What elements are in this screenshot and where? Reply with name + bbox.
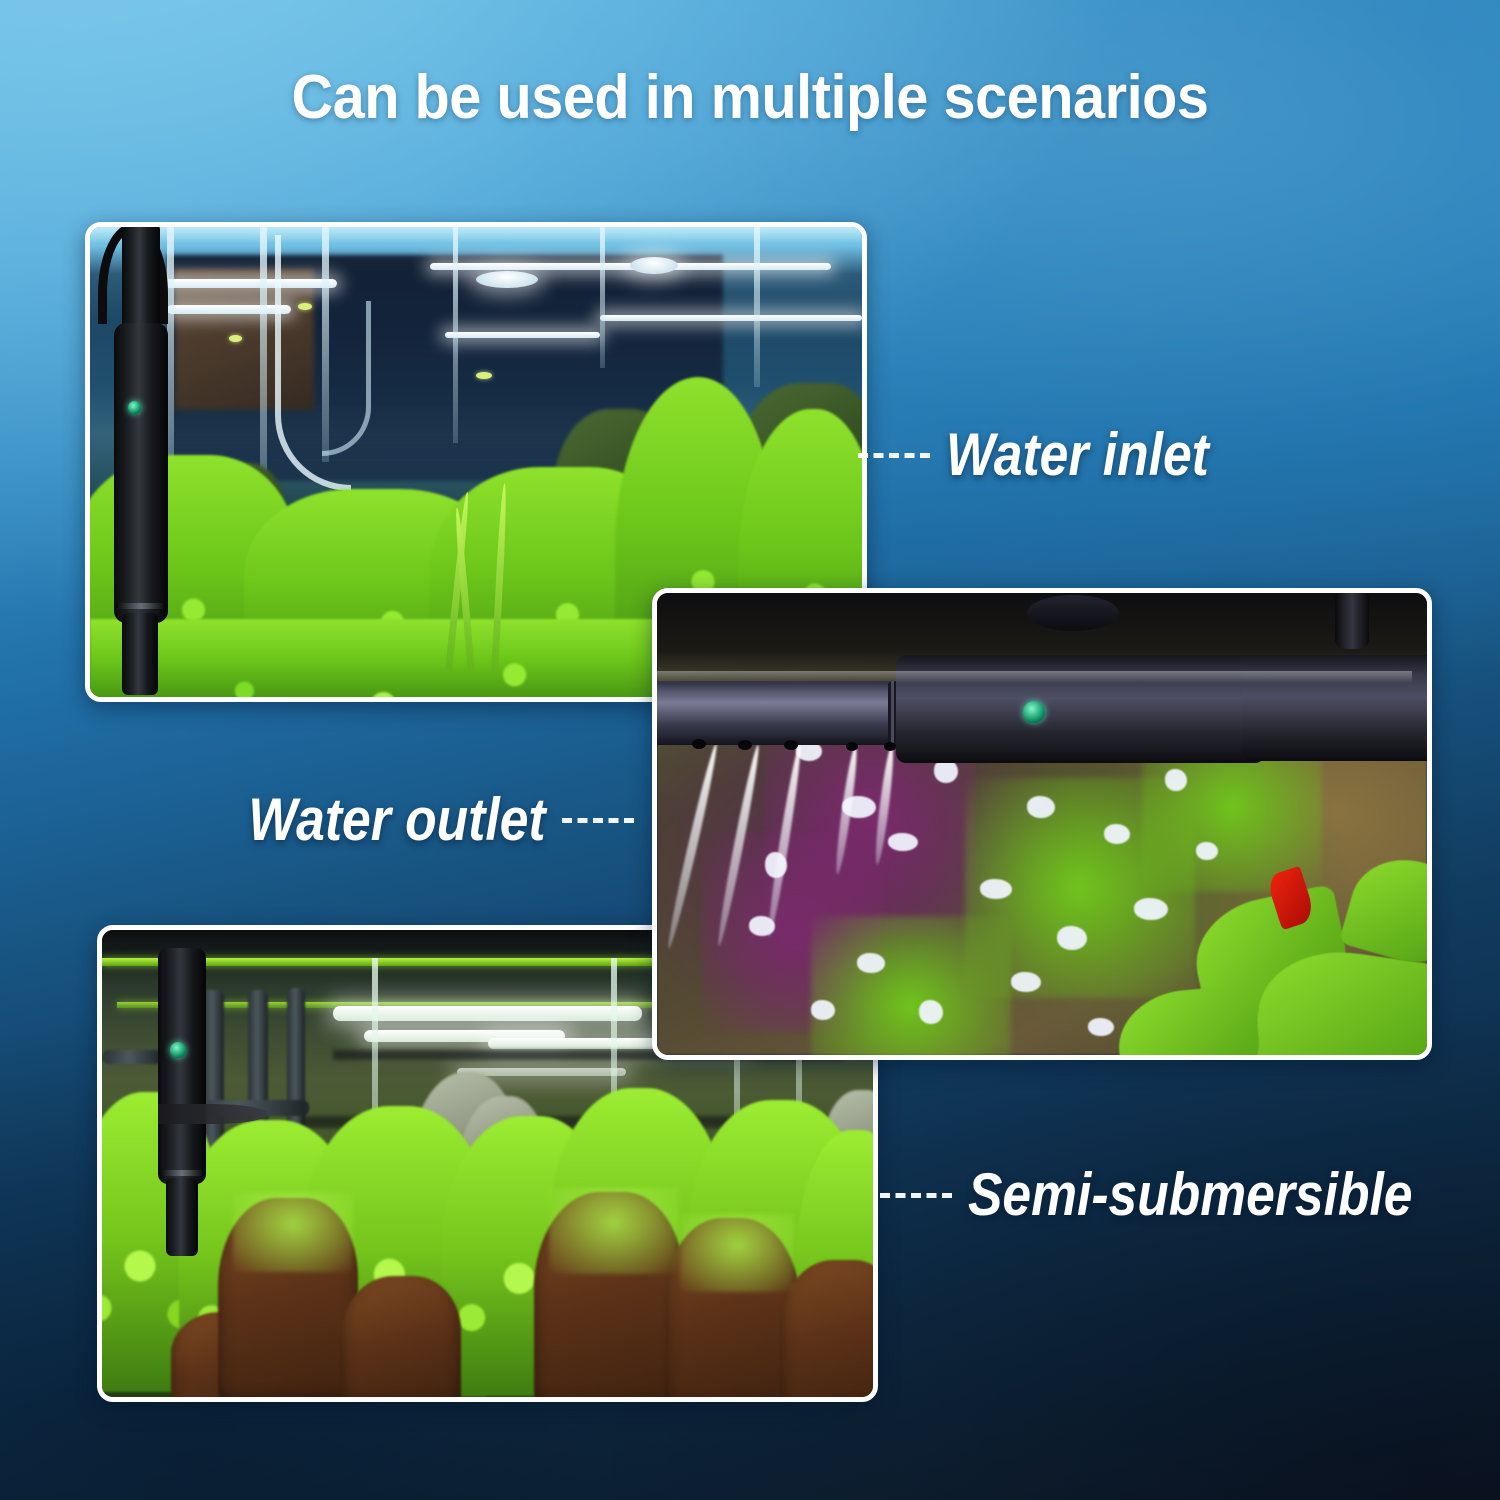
tank-glass-edge bbox=[453, 227, 458, 443]
tank-top-rim bbox=[90, 227, 862, 243]
outlet-hole bbox=[738, 740, 752, 750]
filter-tube-ring bbox=[160, 1170, 204, 1176]
moss-on-rock bbox=[549, 1188, 679, 1274]
callout-water-inlet: Water inlet bbox=[858, 425, 1252, 485]
fish bbox=[476, 372, 492, 379]
pump-highlight bbox=[657, 671, 1412, 683]
outlet-pipe-section bbox=[657, 681, 903, 745]
hose-elbow bbox=[1335, 593, 1369, 649]
tank-glass-edge bbox=[600, 227, 605, 368]
filter-tube-body bbox=[158, 948, 206, 1184]
airline-tubing bbox=[322, 301, 371, 456]
callout-semi-submersible: Semi-submersible bbox=[880, 1165, 1485, 1225]
suction-cup bbox=[1027, 595, 1119, 631]
ceiling-light-disc bbox=[476, 271, 538, 288]
power-indicator-led bbox=[170, 1042, 186, 1058]
ceiling-lamp bbox=[333, 1006, 641, 1021]
outlet-hole bbox=[784, 740, 798, 750]
light-bar bbox=[600, 315, 862, 321]
tank-glass-edge bbox=[754, 227, 760, 387]
lava-rock bbox=[341, 1276, 461, 1397]
leader-dash-icon bbox=[858, 453, 930, 458]
rock-stream-scene-outlet bbox=[657, 593, 1427, 1055]
background-pipe bbox=[102, 1050, 162, 1064]
filter-tube-outlet-nozzle bbox=[122, 613, 158, 695]
filter-tube-outlet-nozzle bbox=[166, 1178, 198, 1256]
leader-dash-icon bbox=[880, 1193, 952, 1198]
light-bar bbox=[445, 332, 599, 338]
infographic-canvas: Can be used in multiple scenarios bbox=[0, 0, 1500, 1500]
outlet-hole bbox=[846, 742, 858, 751]
page-title: Can be used in multiple scenarios bbox=[53, 62, 1448, 133]
moss-on-rock bbox=[233, 1192, 353, 1272]
callout-label: Water inlet bbox=[946, 425, 1209, 485]
suction-bracket bbox=[158, 1104, 268, 1124]
callout-label: Semi-submersible bbox=[968, 1165, 1412, 1225]
power-indicator-led bbox=[128, 401, 141, 414]
fish bbox=[229, 335, 242, 342]
callout-water-outlet: Water outlet bbox=[200, 790, 634, 850]
green-moss-patch bbox=[811, 916, 1011, 1055]
power-indicator-led bbox=[1023, 701, 1045, 723]
filter-tube-ring bbox=[116, 603, 166, 609]
leader-dash-icon bbox=[562, 818, 634, 823]
filter-tube-body bbox=[114, 323, 168, 623]
outlet-hole bbox=[692, 739, 706, 749]
light-bar bbox=[167, 305, 291, 314]
callout-label: Water outlet bbox=[248, 790, 545, 850]
water-outlet-photo bbox=[652, 588, 1432, 1060]
moss-on-rock bbox=[680, 1214, 795, 1292]
